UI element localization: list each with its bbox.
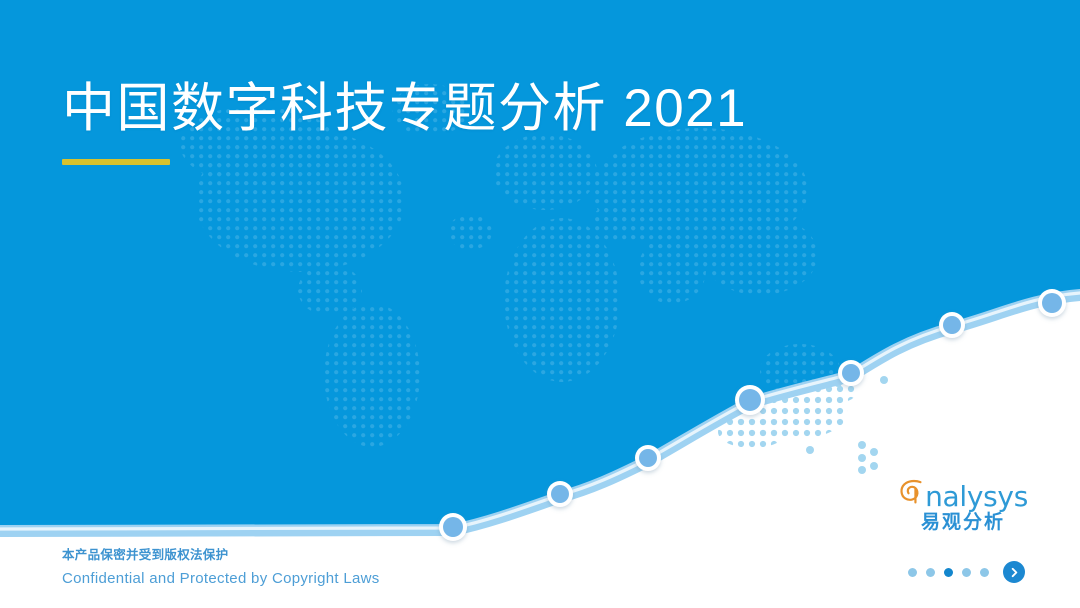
title-block: 中国数字科技专题分析 2021 bbox=[62, 78, 962, 165]
confidential-notice-en: Confidential and Protected by Copyright … bbox=[62, 568, 582, 589]
pagination-dot-5[interactable] bbox=[980, 568, 989, 577]
brand-logo: nalysys 易观分析 bbox=[898, 476, 1028, 534]
curve-marker bbox=[838, 360, 864, 386]
chevron-right-icon bbox=[1009, 567, 1020, 578]
pagination-dot-4[interactable] bbox=[962, 568, 971, 577]
brand-wordmark-text: nalysys bbox=[925, 483, 1028, 511]
presentation-slide: 中国数字科技专题分析 2021 本产品保密并受到版权法保护 Confidenti… bbox=[0, 0, 1080, 608]
pagination-dot-1[interactable] bbox=[908, 568, 917, 577]
confidential-notice: 本产品保密并受到版权法保护 Confidential and Protected… bbox=[62, 546, 582, 589]
analysys-a-swirl-icon bbox=[898, 476, 925, 506]
curve-marker bbox=[439, 513, 467, 541]
title-underline-accent bbox=[62, 159, 170, 165]
brand-chinese-name: 易观分析 bbox=[898, 512, 1028, 534]
curve-marker bbox=[939, 312, 965, 338]
curve-marker bbox=[547, 481, 573, 507]
next-slide-button[interactable] bbox=[1003, 561, 1025, 583]
pagination-dot-2[interactable] bbox=[926, 568, 935, 577]
curve-marker bbox=[1038, 289, 1066, 317]
curve-marker bbox=[735, 385, 765, 415]
page-title: 中国数字科技专题分析 2021 bbox=[62, 78, 962, 141]
confidential-notice-cn: 本产品保密并受到版权法保护 bbox=[62, 546, 582, 565]
pagination[interactable] bbox=[908, 561, 1025, 583]
curve-marker bbox=[635, 445, 661, 471]
brand-wordmark: nalysys bbox=[898, 476, 1028, 510]
pagination-dot-3[interactable] bbox=[944, 568, 953, 577]
